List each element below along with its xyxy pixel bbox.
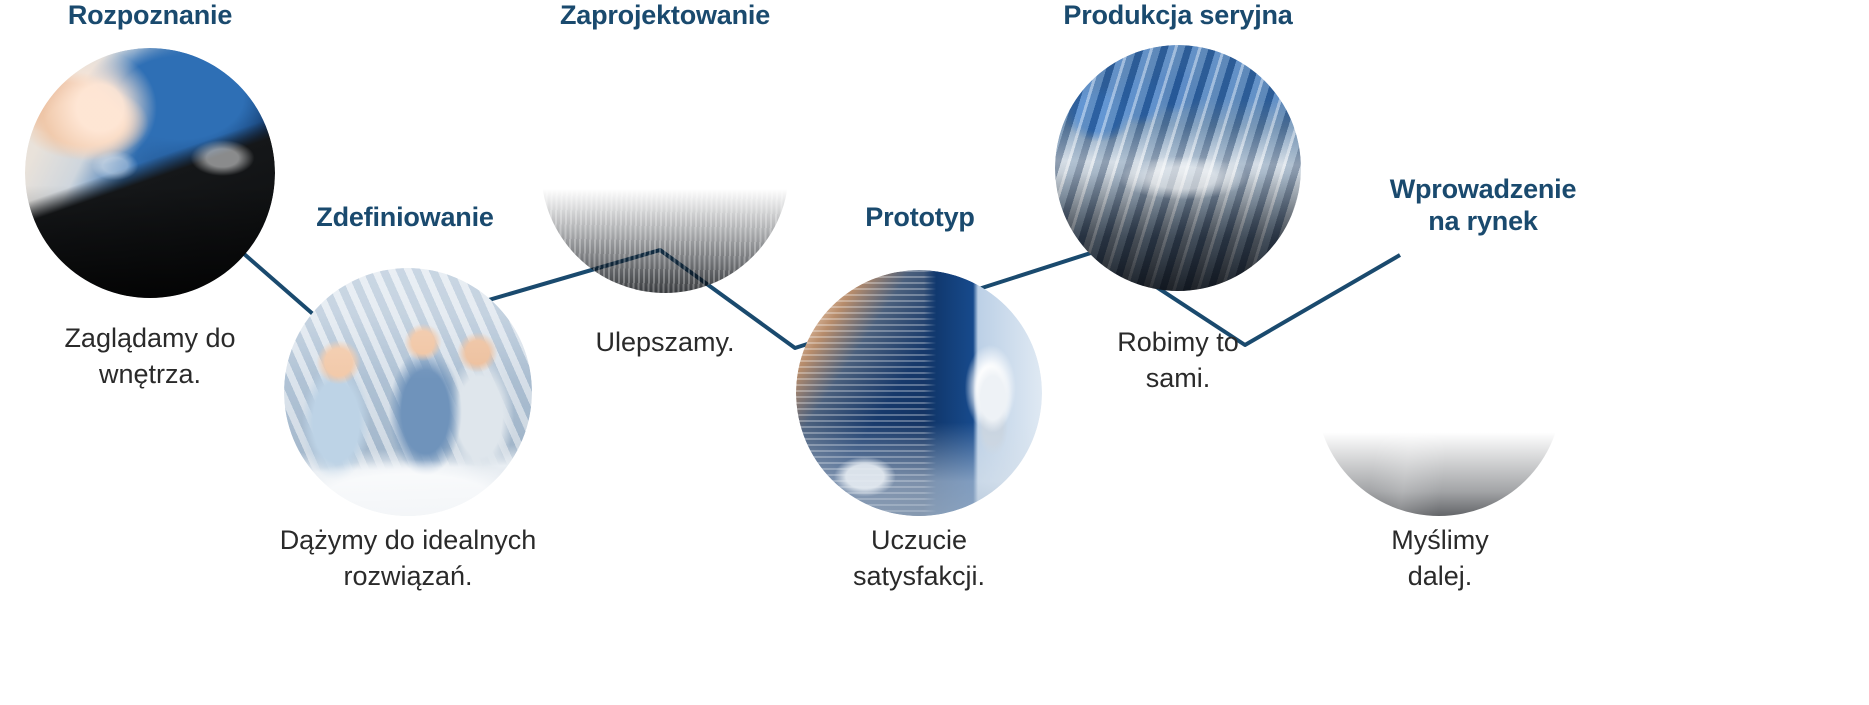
cad-model-monitor-photo: [796, 270, 1042, 516]
step-heading-prototyp: Prototyp: [820, 202, 1020, 234]
step-heading-produkcja-seryjna: Produkcja seryjna: [1038, 0, 1318, 32]
step-caption-zaprojektowanie: Ulepszamy.: [525, 324, 805, 360]
step-image-zdefiniowanie[interactable]: [284, 268, 532, 516]
step-image-produkcja-seryjna[interactable]: [1055, 45, 1301, 291]
step-caption-zdefiniowanie: Dążymy do idealnych rozwiązań.: [253, 522, 563, 595]
machined-shafts-production-photo: [1055, 45, 1301, 291]
step-image-zaprojektowanie[interactable]: [541, 45, 789, 293]
process-flow-diagram: Rozpoznanie Zaglądamy do wnętrza. Zdefin…: [0, 0, 1869, 705]
step-caption-wprowadzenie-na-rynek: Myślimy dalej.: [1300, 522, 1580, 595]
technician-laptop-engine-photo: [541, 45, 789, 293]
step-image-wprowadzenie-na-rynek[interactable]: [1316, 270, 1562, 516]
step-caption-prototyp: Uczucie satysfakcji.: [779, 522, 1059, 595]
step-image-rozpoznanie[interactable]: [25, 48, 275, 298]
step-caption-rozpoznanie: Zaglądamy do wnętrza.: [10, 320, 290, 393]
step-heading-wprowadzenie-na-rynek: Wprowadzenie na rynek: [1328, 174, 1638, 238]
step-heading-zaprojektowanie: Zaprojektowanie: [525, 0, 805, 32]
team-meeting-blueprint-photo: [284, 268, 532, 516]
step-heading-rozpoznanie: Rozpoznanie: [10, 0, 290, 32]
step-heading-zdefiniowanie: Zdefiniowanie: [290, 202, 520, 234]
mechanic-inspecting-car-photo: [25, 48, 275, 298]
hand-applying-hd-sticker-photo: [1316, 270, 1562, 516]
step-caption-produkcja-seryjna: Robimy to sami.: [1038, 324, 1318, 397]
step-image-prototyp[interactable]: [796, 270, 1042, 516]
